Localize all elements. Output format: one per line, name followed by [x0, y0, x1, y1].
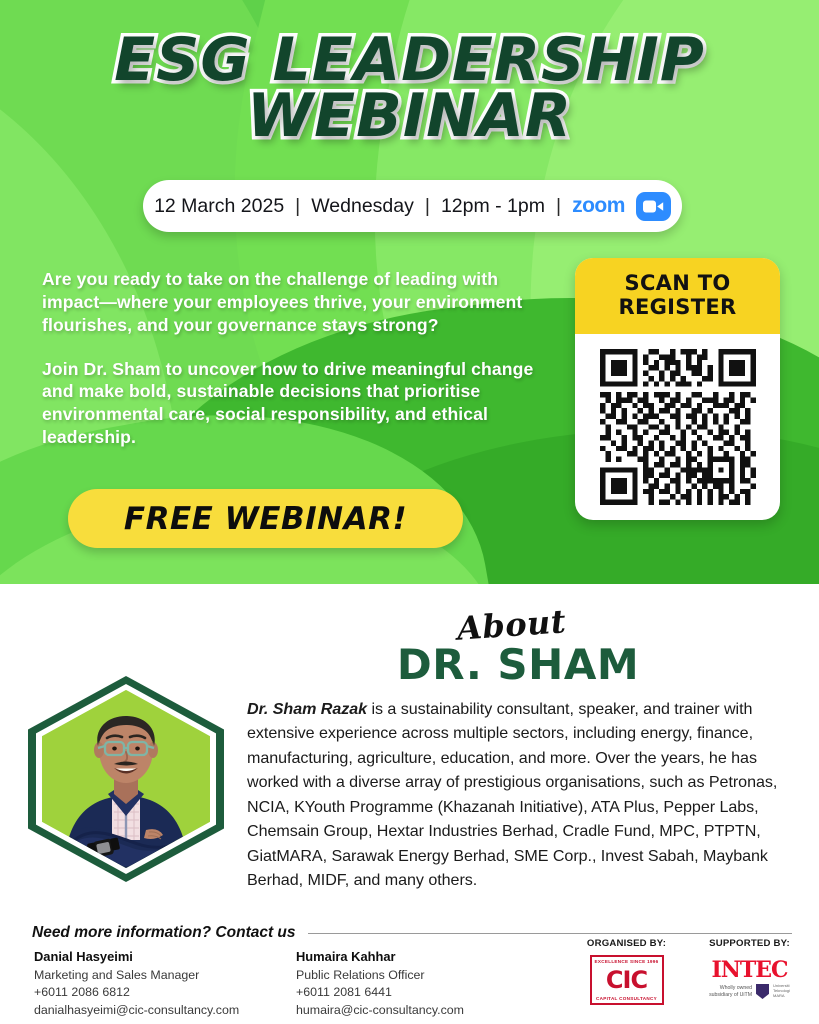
intec-subtitle-row: Wholly owned subsidiary of UiTM Universi…	[695, 984, 804, 999]
hero-paragraph-1: Are you ready to take on the challenge o…	[42, 268, 552, 337]
hero-section: ESG LEADERSHIP WEBINAR 12 March 2025 | W…	[0, 0, 819, 584]
page-title: ESG LEADERSHIP WEBINAR	[0, 32, 819, 145]
bio-body: is a sustainability consultant, speaker,…	[247, 700, 777, 889]
bio-lead-name: Dr. Sham Razak	[247, 700, 367, 718]
supported-by-block: SUPPORTED BY: INTEC Wholly owned subsidi…	[695, 938, 804, 1005]
intec-logo: INTEC Wholly owned subsidiary of UiTM Un…	[695, 959, 804, 999]
event-date: 12 March 2025	[154, 195, 284, 218]
intec-wordmark: INTEC	[695, 959, 804, 981]
contact-card: Danial Hasyeimi Marketing and Sales Mana…	[34, 948, 296, 1020]
contact-phone[interactable]: +6011 2086 6812	[34, 984, 296, 1002]
intec-subtitle: Wholly owned subsidiary of UiTM	[709, 985, 752, 998]
cic-wordmark: CIC	[606, 968, 647, 992]
contact-role: Public Relations Officer	[296, 967, 558, 985]
event-day: Wednesday	[311, 195, 414, 218]
speaker-photo-frame	[28, 676, 224, 882]
contact-heading: Need more information? Contact us	[32, 924, 296, 942]
separator-2: |	[425, 195, 430, 218]
webinar-poster: ESG LEADERSHIP WEBINAR 12 March 2025 | W…	[0, 0, 819, 1024]
supported-by-caption: SUPPORTED BY:	[695, 938, 804, 949]
hero-paragraph-2: Join Dr. Sham to uncover how to drive me…	[42, 358, 552, 449]
uitm-crest-icon	[756, 984, 769, 999]
qr-card-header: SCAN TO REGISTER	[575, 258, 780, 334]
cic-logo: EXCELLENCE SINCE 1996 CIC CAPITAL CONSUL…	[590, 955, 664, 1005]
title-line-2: WEBINAR	[0, 88, 819, 144]
organised-by-caption: ORGANISED BY:	[572, 938, 681, 949]
logo-row: ORGANISED BY: EXCELLENCE SINCE 1996 CIC …	[572, 938, 804, 1005]
event-time: 12pm - 1pm	[441, 195, 545, 218]
uitm-caption: Universiti Teknologi MARA	[773, 984, 790, 998]
contact-phone[interactable]: +6011 2081 6441	[296, 984, 558, 1002]
uitm-line-3: MARA	[773, 994, 790, 999]
qr-code-icon[interactable]	[600, 349, 756, 505]
about-script-word: About	[456, 602, 567, 648]
hero-copy: Are you ready to take on the challenge o…	[42, 268, 552, 449]
contact-card: Humaira Kahhar Public Relations Officer …	[296, 948, 558, 1020]
free-webinar-button[interactable]: FREE WEBINAR!	[68, 489, 463, 548]
contact-role: Marketing and Sales Manager	[34, 967, 296, 985]
divider	[308, 933, 792, 934]
cic-tagline-top: EXCELLENCE SINCE 1996	[595, 959, 659, 964]
contact-name: Humaira Kahhar	[296, 948, 558, 967]
qr-header-line-2: REGISTER	[619, 296, 737, 320]
separator-3: |	[556, 195, 561, 218]
contact-name: Danial Hasyeimi	[34, 948, 296, 967]
contact-email[interactable]: humaira@cic-consultancy.com	[296, 1002, 558, 1020]
organised-by-block: ORGANISED BY: EXCELLENCE SINCE 1996 CIC …	[572, 938, 681, 1005]
qr-card-body	[575, 334, 780, 520]
about-heading: About DR. SHAM	[248, 606, 788, 689]
speaker-name-heading: DR. SHAM	[248, 640, 788, 689]
event-details-pill: 12 March 2025 | Wednesday | 12pm - 1pm |…	[143, 180, 682, 232]
video-camera-icon	[636, 192, 671, 221]
zoom-wordmark: zoom	[572, 194, 625, 218]
cic-tagline-bottom: CAPITAL CONSULTANCY	[596, 996, 657, 1001]
intec-subtitle-line-2: subsidiary of UiTM	[709, 992, 752, 999]
speaker-bio: Dr. Sham Razak is a sustainability consu…	[247, 697, 795, 893]
scan-to-register-card[interactable]: SCAN TO REGISTER	[575, 258, 780, 520]
contact-list: Danial Hasyeimi Marketing and Sales Mana…	[34, 948, 574, 1020]
separator-1: |	[295, 195, 300, 218]
qr-header-line-1: SCAN TO	[625, 272, 731, 296]
contact-email[interactable]: danialhasyeimi@cic-consultancy.com	[34, 1002, 296, 1020]
